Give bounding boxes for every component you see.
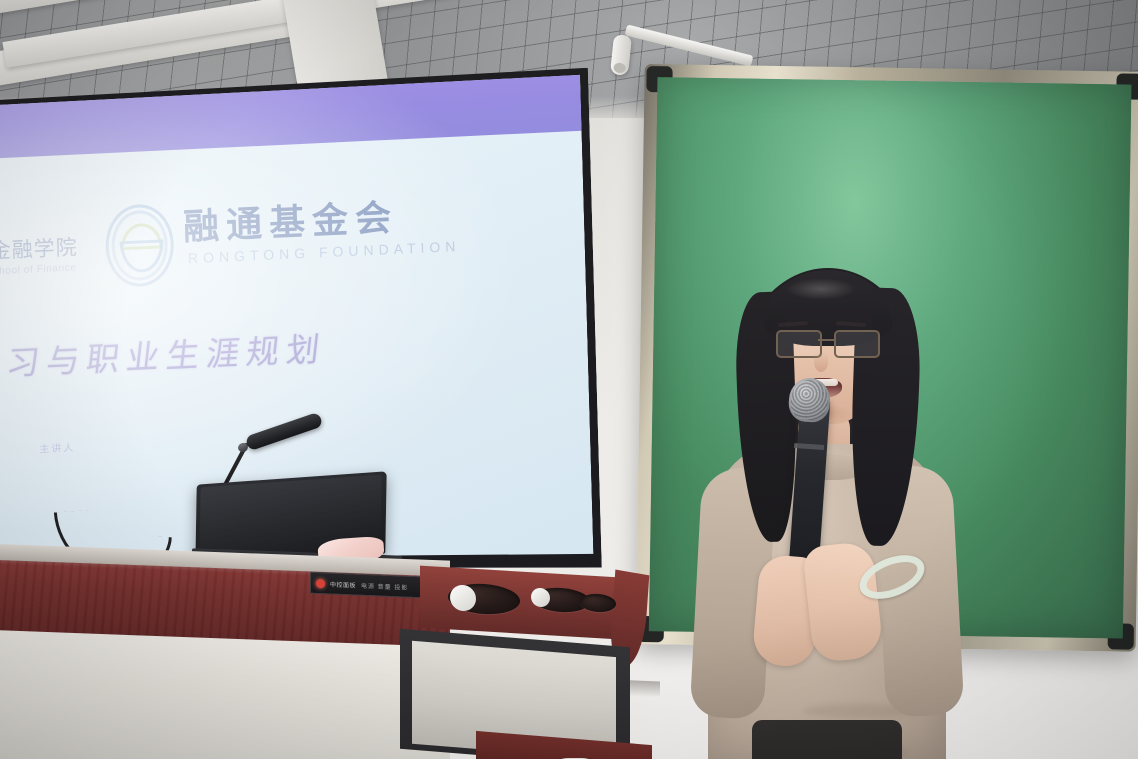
slide-subtitle: 主讲人 [39, 439, 75, 456]
eyeglass-lens-right [834, 330, 880, 358]
nankai-school-en: School of Finance [0, 262, 77, 277]
podium-control-panel[interactable]: 中控面板 电源 音量 投影 [310, 572, 422, 599]
nankai-university-logo: 南开大学 金融学院 Nankai University School of Fi… [0, 214, 109, 307]
rongtong-emblem-icon [105, 203, 175, 288]
slide-logo-row: 南开大学 金融学院 Nankai University School of Fi… [0, 176, 559, 318]
hair-highlight [786, 278, 856, 300]
power-led-icon [316, 578, 325, 587]
nankai-school-cn: 金融学院 [0, 231, 78, 265]
classroom-presentation-scene: 年第二学期 南开大学 金融学院 Nankai University School… [0, 0, 1138, 759]
podium-cup [531, 587, 550, 607]
skirt [752, 720, 902, 759]
lectern-podium: 中控面板 电源 音量 投影 [0, 552, 670, 759]
nose [814, 352, 828, 372]
speaker-person [690, 268, 990, 759]
slide-title: 专业学习与职业生涯规划 [0, 322, 329, 390]
podium-cup [450, 584, 476, 612]
control-panel-label-secondary: 电源 音量 投影 [361, 580, 408, 591]
rongtong-foundation-logo: 融通基金会 RONGTONG FOUNDATION [104, 184, 407, 304]
hand-right [802, 541, 884, 664]
control-panel-label-primary: 中控面板 [330, 579, 356, 589]
podium-body [0, 629, 450, 759]
